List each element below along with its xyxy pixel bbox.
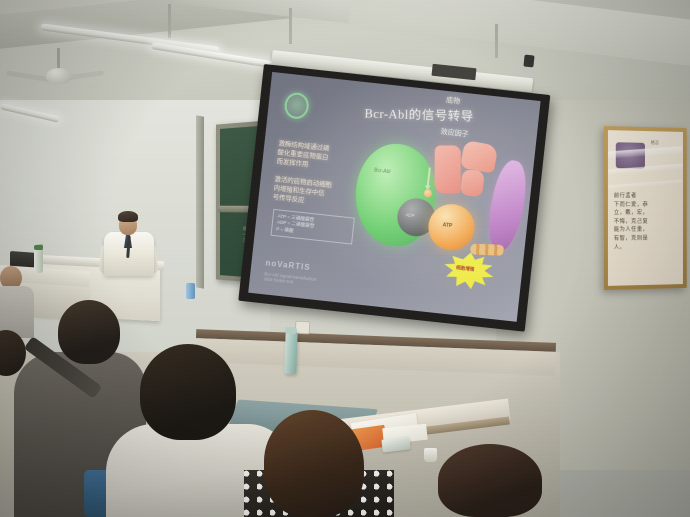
ceiling-beam [349,0,690,68]
projection-screen[interactable]: Bcr-Abl的信号转导 底物 效应因子 激酶结构域通过磷 酸化重要底物蛋白 而… [238,64,550,332]
poster-heading: 格言 [651,140,659,146]
audience-member-head [140,344,236,440]
framed-poster: 格言 前行孟者 下而仁爱，恭 立，戴，宏， 不悔，克己复 能为人任重， 有智，克… [604,126,687,290]
audience-member-head [264,410,364,517]
bottle-cap [34,245,43,250]
water-bottle [34,248,43,273]
blue-bottle [186,283,195,299]
paper-cup [424,448,437,462]
audience-member-head [438,444,542,517]
blackboard-left-edge [196,115,204,288]
audience-member-head [58,300,120,364]
slide-surface: Bcr-Abl的信号转导 底物 效应因子 激酶结构域通过磷 酸化重要底物蛋白 而… [248,72,540,322]
projector-glare [248,72,540,322]
light-hanger [495,24,498,58]
screen-roller-cap [523,55,534,68]
presenter-hair [118,211,138,222]
thermos-flask [284,330,298,374]
thermos-cap [285,327,297,334]
poster-body-text: 前行孟者 下而仁爱，恭 立，戴，宏， 不悔，克己复 能为人任重， 有智，克则是 … [614,192,678,252]
classroom-photo: 病例讨论 一、二 三、四 Bcr-Abl的信号转导 底物 效应因子 激酶结构域通… [0,0,690,517]
light-hanger [168,4,171,38]
ceiling-fan-rod [57,48,60,70]
ceiling-fan-motor [46,68,72,84]
glass-glare [608,179,683,189]
light-hanger [289,8,292,44]
poster-mat: 格言 前行孟者 下而仁爱，恭 立，戴，宏， 不悔，克己复 能为人任重， 有智，克… [608,130,683,286]
